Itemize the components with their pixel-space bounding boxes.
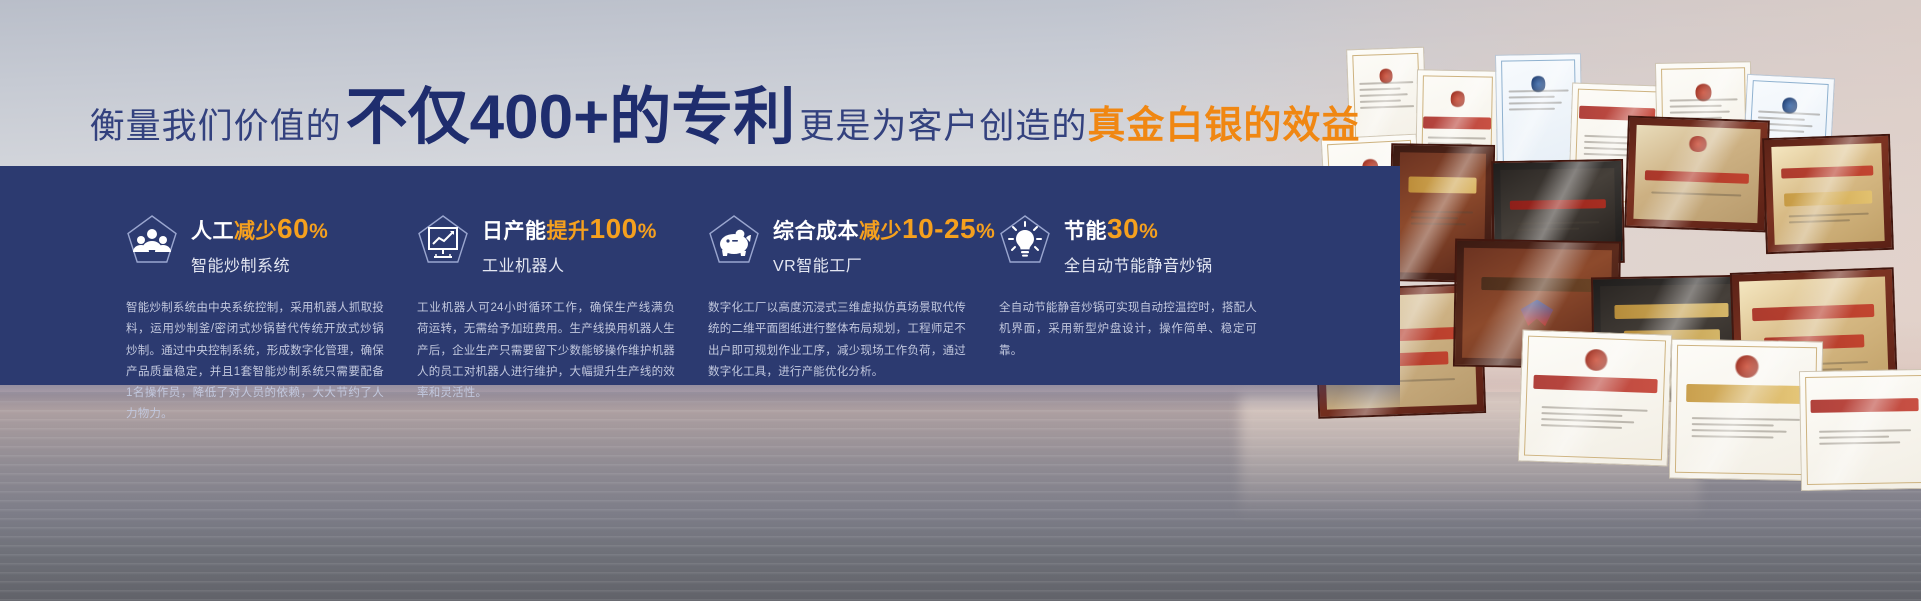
feature-head-text: 人工减少60% 智能炒制系统 — [191, 214, 328, 276]
feature-column-labor: 人工减少60% 智能炒制系统 智能炒制系统由中央系统控制，采用机器人抓取投料，运… — [126, 166, 384, 385]
feature-header: 日产能提升100% 工业机器人 — [417, 166, 675, 276]
feature-body-text: 数字化工厂以高度沉浸式三维虚拟仿真场景取代传统的二维平面图纸进行整体布局规划，工… — [708, 298, 966, 383]
stat-label: 人工 — [191, 220, 234, 243]
feature-column-capacity: 日产能提升100% 工业机器人 工业机器人可24小时循环工作，确保生产线满负荷运… — [417, 166, 675, 385]
stat-unit: % — [309, 220, 328, 243]
headline-emphasis: 不仅400+的专利 — [346, 66, 796, 156]
stat-change: 减少 — [859, 220, 902, 243]
feature-body-text: 工业机器人可24小时循环工作，确保生产线满负荷运转，无需给予加班费用。生产线换用… — [417, 298, 675, 404]
certificate-paper — [1518, 329, 1673, 466]
feature-head-text: 综合成本减少10-25% VR智能工厂 — [773, 214, 995, 276]
stat-label: 日产能 — [482, 220, 547, 243]
stat-number: 10-25 — [902, 213, 976, 244]
lightbulb-pentagon-icon — [999, 214, 1051, 270]
stat-change: 提升 — [547, 220, 590, 243]
stat-number: 30 — [1107, 213, 1139, 244]
feature-subtitle: 全自动节能静音炒锅 — [1064, 252, 1213, 276]
stat-unit: % — [976, 220, 995, 243]
stat-unit: % — [638, 220, 657, 243]
award-plaque — [1762, 134, 1894, 254]
piggy-bank-pentagon-icon — [708, 214, 760, 270]
feature-body-text: 全自动节能静音炒锅可实现自动控温控时，搭配人机界面，采用新型炉盘设计，操作简单、… — [999, 298, 1257, 362]
feature-panel: 人工减少60% 智能炒制系统 智能炒制系统由中央系统控制，采用机器人抓取投料，运… — [0, 166, 1400, 385]
stat-line: 人工减少60% — [191, 215, 328, 243]
headline: 衡量我们价值的 不仅400+的专利 更是为客户创造的 真金白银的效益 — [0, 66, 1450, 140]
stat-line: 节能30% — [1064, 215, 1213, 243]
stat-change: 减少 — [234, 220, 277, 243]
feature-columns: 人工减少60% 智能炒制系统 智能炒制系统由中央系统控制，采用机器人抓取投料，运… — [126, 166, 1400, 385]
stat-number: 100 — [590, 213, 638, 244]
stat-label: 综合成本 — [773, 220, 859, 243]
feature-subtitle: VR智能工厂 — [773, 252, 995, 276]
stat-number: 60 — [277, 213, 309, 244]
stat-line: 综合成本减少10-25% — [773, 215, 995, 243]
feature-header: 综合成本减少10-25% VR智能工厂 — [708, 166, 966, 276]
feature-header: 人工减少60% 智能炒制系统 — [126, 166, 384, 276]
headline-prefix: 衡量我们价值的 — [90, 98, 342, 149]
award-plaque — [1624, 116, 1770, 233]
feature-header: 节能30% 全自动节能静音炒锅 — [999, 166, 1257, 276]
headline-middle: 更是为客户创造的 — [799, 98, 1087, 149]
feature-column-cost: 综合成本减少10-25% VR智能工厂 数字化工厂以高度沉浸式三维虚拟仿真场景取… — [708, 166, 966, 385]
feature-head-text: 节能30% 全自动节能静音炒锅 — [1064, 214, 1213, 276]
stat-label: 节能 — [1064, 220, 1107, 243]
feature-body-text: 智能炒制系统由中央系统控制，采用机器人抓取投料，运用炒制釜/密闭式炒锅替代传统开… — [126, 298, 384, 426]
stat-line: 日产能提升100% — [482, 215, 657, 243]
headline-highlight: 真金白银的效益 — [1087, 94, 1360, 149]
feature-subtitle: 智能炒制系统 — [191, 252, 328, 276]
chart-presentation-pentagon-icon — [417, 214, 469, 270]
team-people-pentagon-icon — [126, 214, 178, 270]
stat-unit: % — [1139, 220, 1158, 243]
feature-head-text: 日产能提升100% 工业机器人 — [482, 214, 657, 276]
feature-subtitle: 工业机器人 — [482, 252, 657, 276]
feature-column-energy: 节能30% 全自动节能静音炒锅 全自动节能静音炒锅可实现自动控温控时，搭配人机界… — [999, 166, 1257, 385]
certificate-paper — [1799, 369, 1921, 491]
